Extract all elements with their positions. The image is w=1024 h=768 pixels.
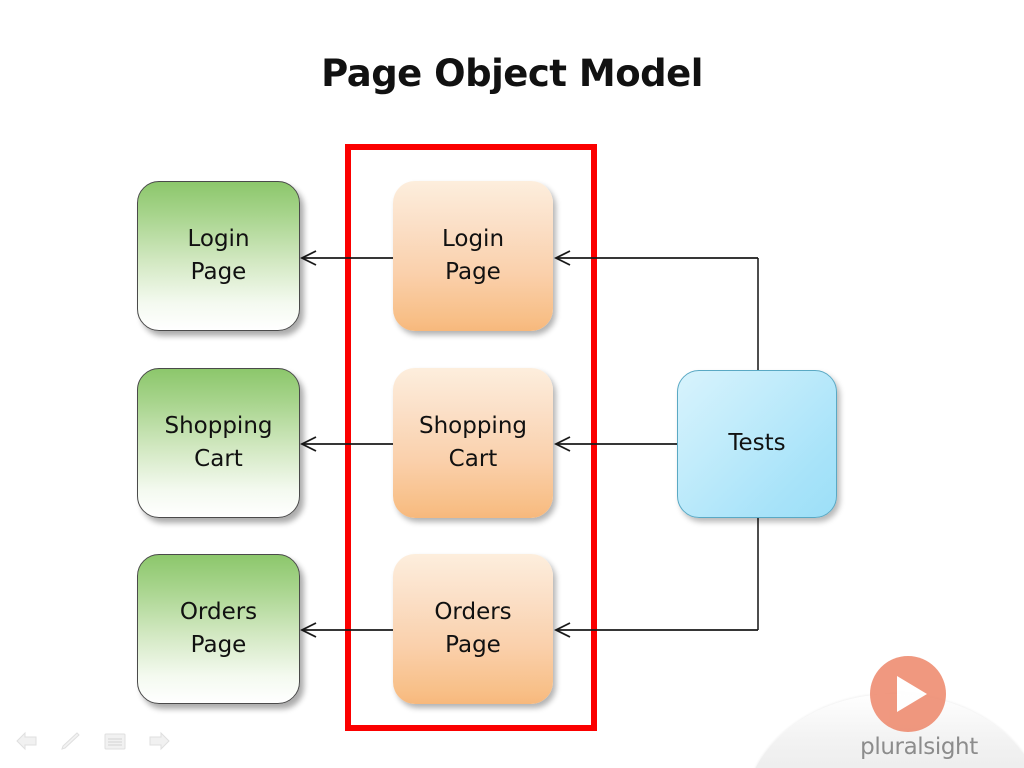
app-page-box-login[interactable]: Login Page <box>137 181 300 331</box>
tests-label: Tests <box>722 427 791 460</box>
page-object-box-login[interactable]: Login Page <box>393 181 553 331</box>
slide-menu-icon[interactable] <box>102 729 128 753</box>
page-object-label-login: Login Page <box>436 223 510 290</box>
next-slide-icon[interactable] <box>146 729 172 753</box>
app-page-box-shopping-cart[interactable]: Shopping Cart <box>137 368 300 518</box>
slide-navigation-bar <box>14 724 184 758</box>
page-object-label-shopping-cart: Shopping Cart <box>413 410 533 477</box>
slide-canvas: Page Object Model <box>0 0 1024 768</box>
page-object-label-orders: Orders Page <box>428 596 517 663</box>
app-page-box-orders[interactable]: Orders Page <box>137 554 300 704</box>
pen-annotation-icon[interactable] <box>58 729 84 753</box>
app-page-label-shopping-cart: Shopping Cart <box>158 410 278 477</box>
page-object-box-shopping-cart[interactable]: Shopping Cart <box>393 368 553 518</box>
app-page-label-orders: Orders Page <box>174 596 263 663</box>
tests-box[interactable]: Tests <box>677 370 837 518</box>
previous-slide-icon[interactable] <box>14 729 40 753</box>
page-object-box-orders[interactable]: Orders Page <box>393 554 553 704</box>
app-page-label-login: Login Page <box>181 223 255 290</box>
